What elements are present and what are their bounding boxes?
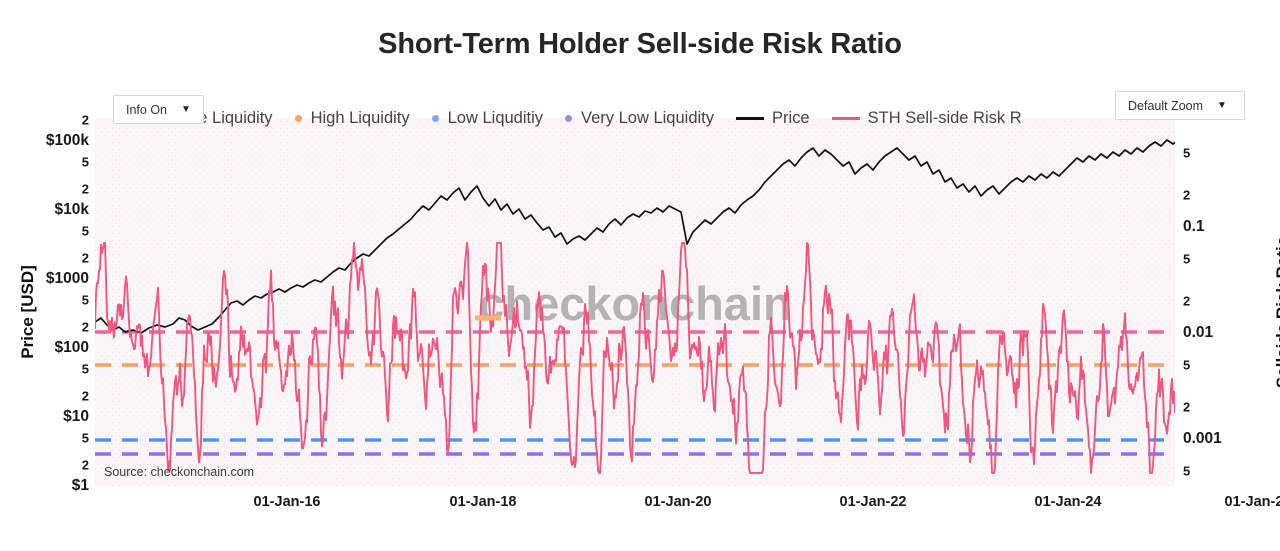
x-axis-tick: 01-Jan-16 (254, 494, 321, 510)
y-axis-left-tick: 2 (82, 113, 89, 128)
y-axis-left-tick: 5 (82, 223, 89, 238)
y-axis-left-tick: $10 (63, 408, 89, 426)
x-axis-tick: 01-Jan-26 (1225, 494, 1280, 510)
plot-area: checkonchain Source: checkonchain.com (95, 118, 1175, 486)
y-axis-left-tick: $10k (55, 201, 89, 219)
y-axis-right-tick: 5 (1183, 463, 1190, 478)
y-axis-left-tick: 2 (82, 320, 89, 335)
info-dropdown[interactable]: Info On ▼ (113, 95, 204, 124)
chevron-down-icon: ▼ (181, 105, 191, 115)
y-axis-right-tick: 5 (1183, 251, 1190, 266)
price-line (95, 138, 1175, 333)
y-axis-right-tick: 0.001 (1183, 430, 1222, 448)
source-note: Source: checkonchain.com (104, 465, 254, 479)
y-axis-left-tick: $100k (46, 132, 89, 150)
y-axis-left-tick: 5 (82, 430, 89, 445)
y-axis-right-tick: 2 (1183, 294, 1190, 309)
y-axis-right-title: Sellside Risk Ratio (1273, 207, 1280, 417)
y-axis-right-tick: 0.1 (1183, 218, 1205, 236)
y-axis-right-tick: 0.01 (1183, 324, 1213, 342)
chevron-down-icon: ▼ (1217, 101, 1227, 111)
y-axis-left-title: Price [USD] (18, 232, 38, 392)
y-axis-left-tick: 2 (82, 251, 89, 266)
y-axis-right-tick: 2 (1183, 400, 1190, 415)
zoom-dropdown-label: Default Zoom (1128, 99, 1203, 113)
info-dropdown-label: Info On (126, 103, 167, 117)
y-axis-left-tick: 5 (82, 292, 89, 307)
x-axis-tick: 01-Jan-22 (840, 494, 907, 510)
y-axis-left-tick: 2 (82, 182, 89, 197)
y-axis-left-tick: $1000 (46, 270, 89, 288)
y-axis-left-tick: 2 (82, 458, 89, 473)
x-axis-tick: 01-Jan-18 (450, 494, 517, 510)
y-axis-right-tick: 2 (1183, 188, 1190, 203)
x-axis-tick: 01-Jan-20 (645, 494, 712, 510)
y-axis-left-tick: 5 (82, 154, 89, 169)
y-axis-left-tick: 5 (82, 361, 89, 376)
y-axis-left-tick: $1 (72, 477, 89, 495)
chart-root: Short-Term Holder Sell-side Risk Ratio c… (0, 0, 1280, 551)
page-title: Short-Term Holder Sell-side Risk Ratio (0, 28, 1280, 61)
x-axis-tick: 01-Jan-24 (1035, 494, 1102, 510)
y-axis-left-tick: 2 (82, 389, 89, 404)
zoom-dropdown[interactable]: Default Zoom ▼ (1115, 91, 1245, 120)
plot-svg (95, 118, 1175, 486)
y-axis-right-tick: 5 (1183, 145, 1190, 160)
y-axis-left-tick: $100 (55, 339, 89, 357)
y-axis-right-tick: 5 (1183, 357, 1190, 372)
